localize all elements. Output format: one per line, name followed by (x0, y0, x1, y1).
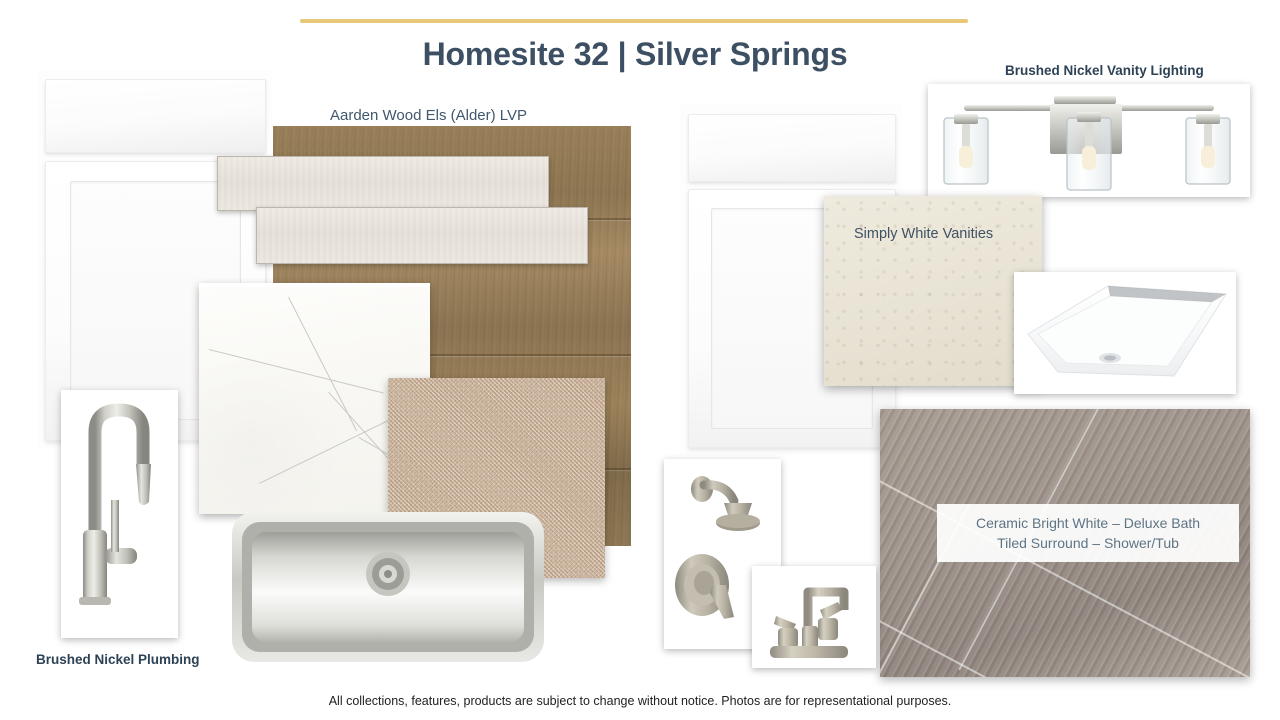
kitchen-sink-icon (228, 506, 548, 666)
lav-faucet-icon (752, 566, 876, 668)
kitchen-faucet-icon (61, 390, 178, 638)
page-title: Homesite 32 | Silver Springs (280, 36, 990, 73)
kitchen-faucet-card (61, 390, 178, 638)
vanity-countertop-swatch (824, 196, 1042, 386)
footer-disclaimer: All collections, features, products are … (0, 694, 1280, 708)
backsplash-plank-upper (217, 156, 549, 211)
vanities-label: Simply White Vanities (854, 226, 993, 242)
kitchen-sink-swatch (228, 506, 548, 666)
bath-tile-caption-line2: Tiled Surround – Shower/Tub (997, 535, 1179, 551)
title-accent-bar (300, 19, 968, 23)
lvp-label: Aarden Wood Els (Alder) LVP (330, 107, 527, 124)
lav-faucet-card (752, 566, 876, 668)
vanity-light-icon (928, 84, 1250, 197)
plumbing-label: Brushed Nickel Plumbing (36, 652, 200, 667)
bath-tile-caption: Ceramic Bright White – Deluxe Bath Tiled… (937, 504, 1239, 562)
vanity-lighting-label: Brushed Nickel Vanity Lighting (1005, 63, 1204, 78)
backsplash-plank-lower (256, 207, 588, 264)
vanity-light-card (928, 84, 1250, 197)
bath-floor-tile-swatch: Ceramic Bright White – Deluxe Bath Tiled… (880, 409, 1250, 677)
mood-board: Homesite 32 | Silver Springs Aarden Wood… (0, 0, 1280, 720)
lav-sink-icon (1014, 272, 1236, 394)
bath-tile-caption-line1: Ceramic Bright White – Deluxe Bath (976, 515, 1200, 531)
lav-sink-card (1014, 272, 1236, 394)
